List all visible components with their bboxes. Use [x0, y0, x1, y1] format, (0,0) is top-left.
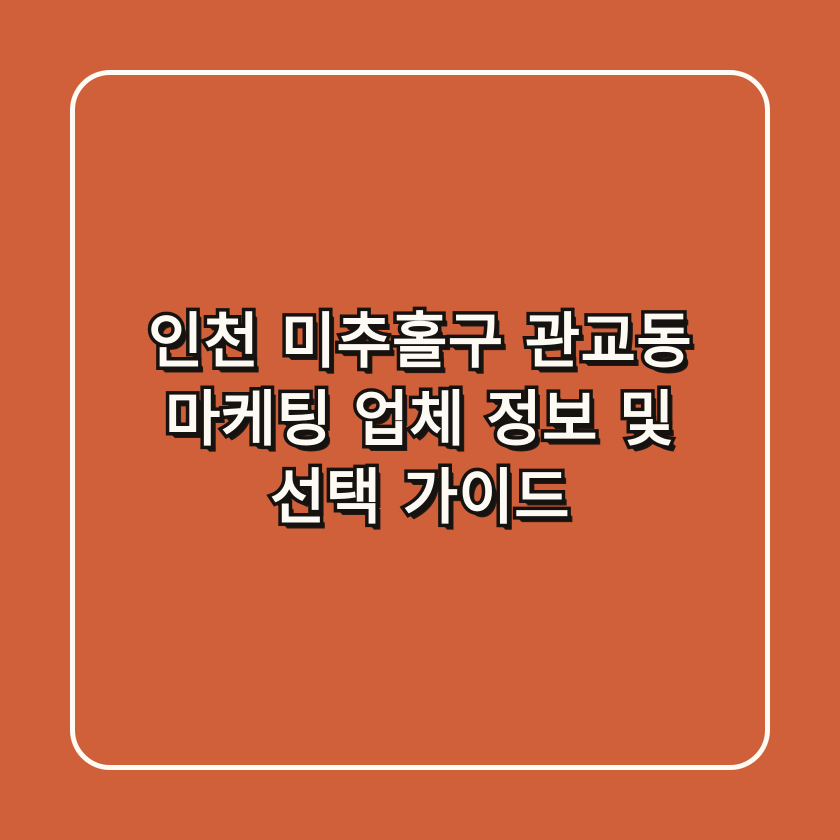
page-title: 인천 미추홀구 관교동 마케팅 업체 정보 및 선택 가이드	[90, 303, 750, 537]
thumbnail-card: 인천 미추홀구 관교동 마케팅 업체 정보 및 선택 가이드	[0, 0, 840, 840]
title-line-2: 마케팅 업체 정보 및	[165, 381, 675, 459]
title-line-3: 선택 가이드	[270, 459, 570, 537]
title-line-1: 인천 미추홀구 관교동	[148, 303, 692, 381]
